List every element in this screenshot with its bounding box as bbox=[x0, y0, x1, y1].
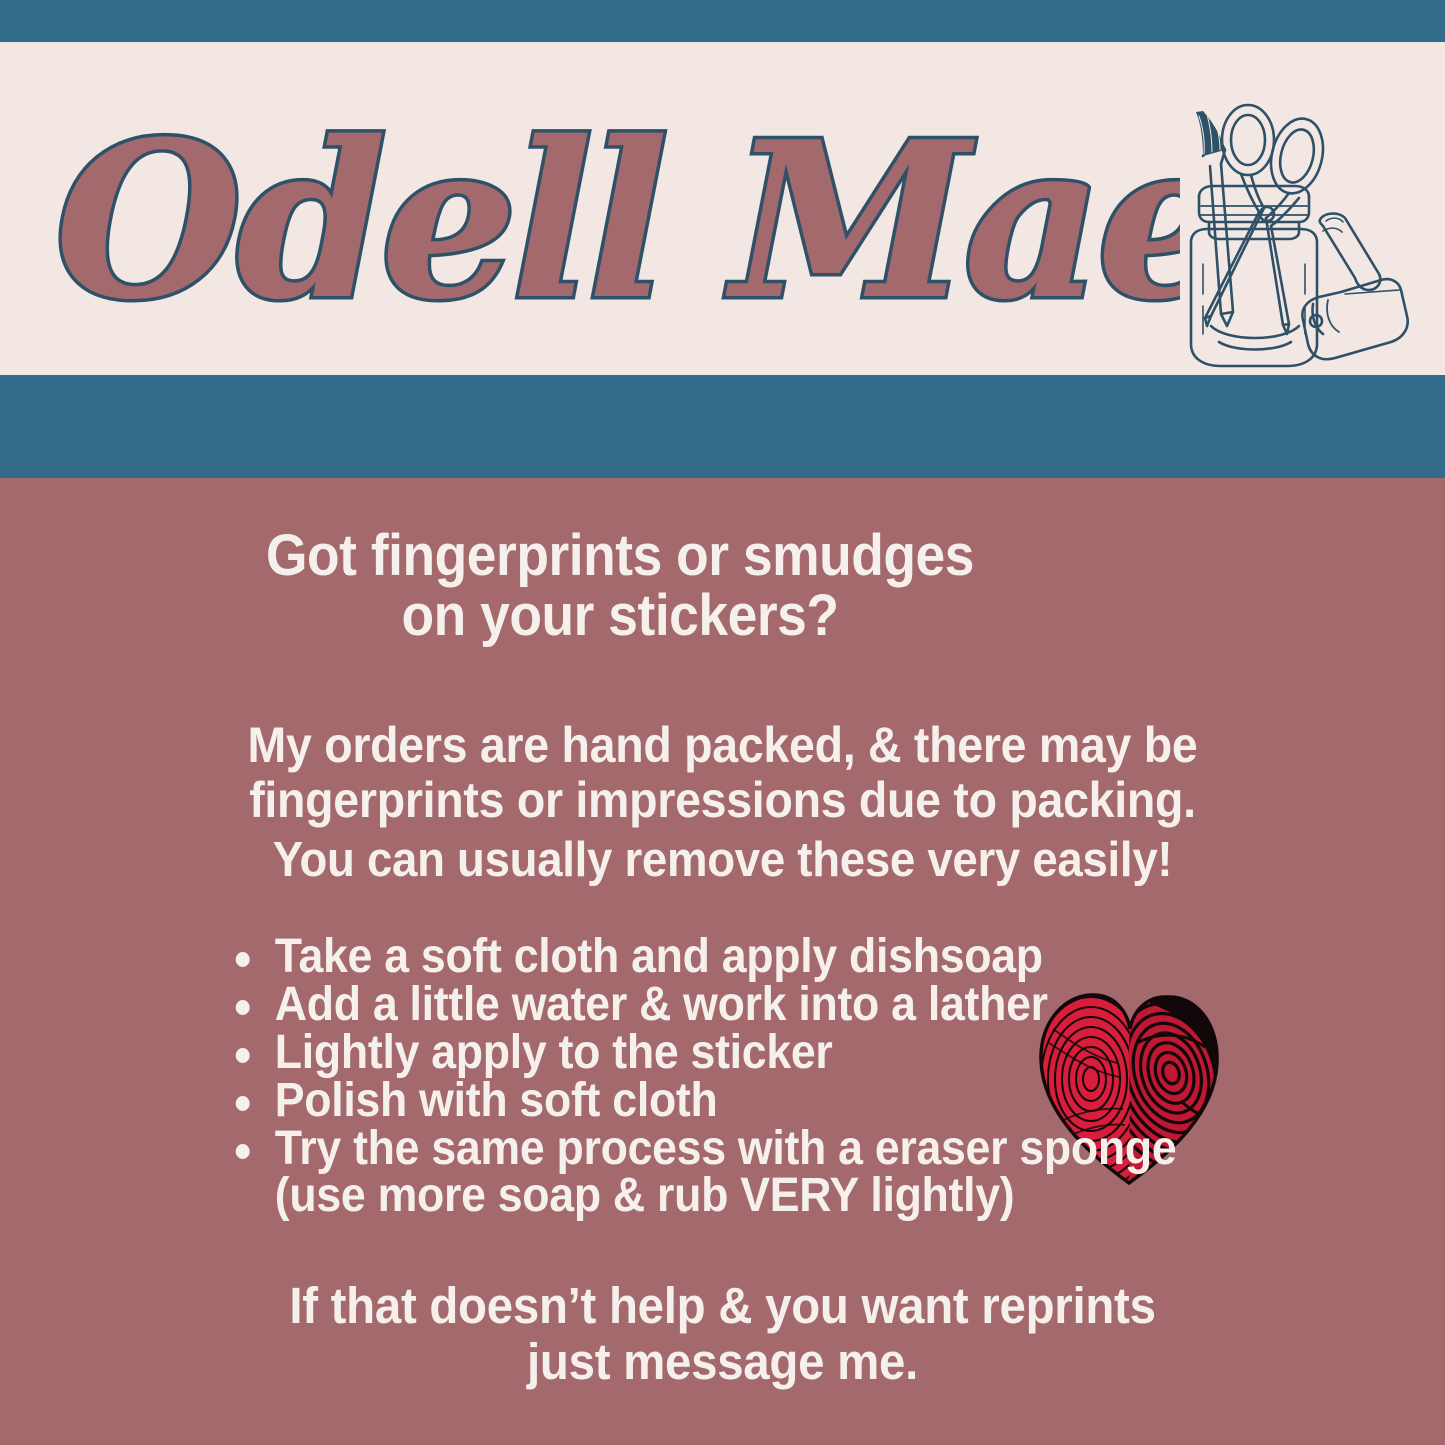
flyer-page: Odell Mae bbox=[0, 0, 1445, 1445]
closing-line-1: If that doesn’t help & you want reprints bbox=[144, 1278, 1302, 1334]
para1-line-2: fingerprints or impressions due to packi… bbox=[144, 773, 1302, 828]
page-heading: Got fingerprints or smudges on your stic… bbox=[160, 526, 1080, 646]
list-item-subtext: (use more soap & rub VERY lightly) bbox=[275, 1172, 1255, 1219]
bullet-dot-icon bbox=[236, 1000, 250, 1015]
craft-tools-icon bbox=[1163, 94, 1413, 394]
paragraph-remove-easily: You can usually remove these very easily… bbox=[144, 833, 1302, 887]
bullet-dot-icon bbox=[236, 1096, 250, 1111]
logo-band: Odell Mae bbox=[0, 42, 1445, 375]
list-item-text: Try the same process with a eraser spong… bbox=[275, 1122, 1177, 1175]
closing-message: If that doesn’t help & you want reprints… bbox=[144, 1278, 1302, 1390]
bullet-dot-icon bbox=[236, 1048, 250, 1063]
list-item: Try the same process with a eraser spong… bbox=[232, 1125, 1255, 1219]
list-item-text: Polish with soft cloth bbox=[275, 1074, 718, 1127]
brand-logo: Odell Mae bbox=[45, 96, 1180, 361]
para1-line-1: My orders are hand packed, & there may b… bbox=[144, 718, 1302, 773]
list-item: Polish with soft cloth bbox=[232, 1077, 1255, 1124]
list-item: Take a soft cloth and apply dishsoap bbox=[232, 933, 1255, 980]
heading-line-2: on your stickers? bbox=[160, 586, 1080, 646]
body-content: Got fingerprints or smudges on your stic… bbox=[0, 478, 1445, 1445]
top-teal-band bbox=[0, 0, 1445, 42]
paragraph-hand-packed: My orders are hand packed, & there may b… bbox=[144, 718, 1302, 828]
closing-line-2: just message me. bbox=[144, 1334, 1302, 1390]
instructions-list: Take a soft cloth and apply dishsoap Add… bbox=[232, 933, 1332, 1220]
list-item-text: Add a little water & work into a lather bbox=[275, 978, 1048, 1031]
bullet-dot-icon bbox=[236, 952, 250, 967]
list-item-text: Lightly apply to the sticker bbox=[275, 1026, 833, 1079]
list-item-text: Take a soft cloth and apply dishsoap bbox=[275, 930, 1043, 983]
list-item: Add a little water & work into a lather bbox=[232, 981, 1255, 1028]
para2-line-1: You can usually remove these very easily… bbox=[144, 833, 1302, 887]
heading-line-1: Got fingerprints or smudges bbox=[160, 526, 1080, 586]
bullet-dot-icon bbox=[236, 1144, 250, 1159]
list-item: Lightly apply to the sticker bbox=[232, 1029, 1255, 1076]
brand-name-text: Odell Mae bbox=[55, 96, 1180, 347]
